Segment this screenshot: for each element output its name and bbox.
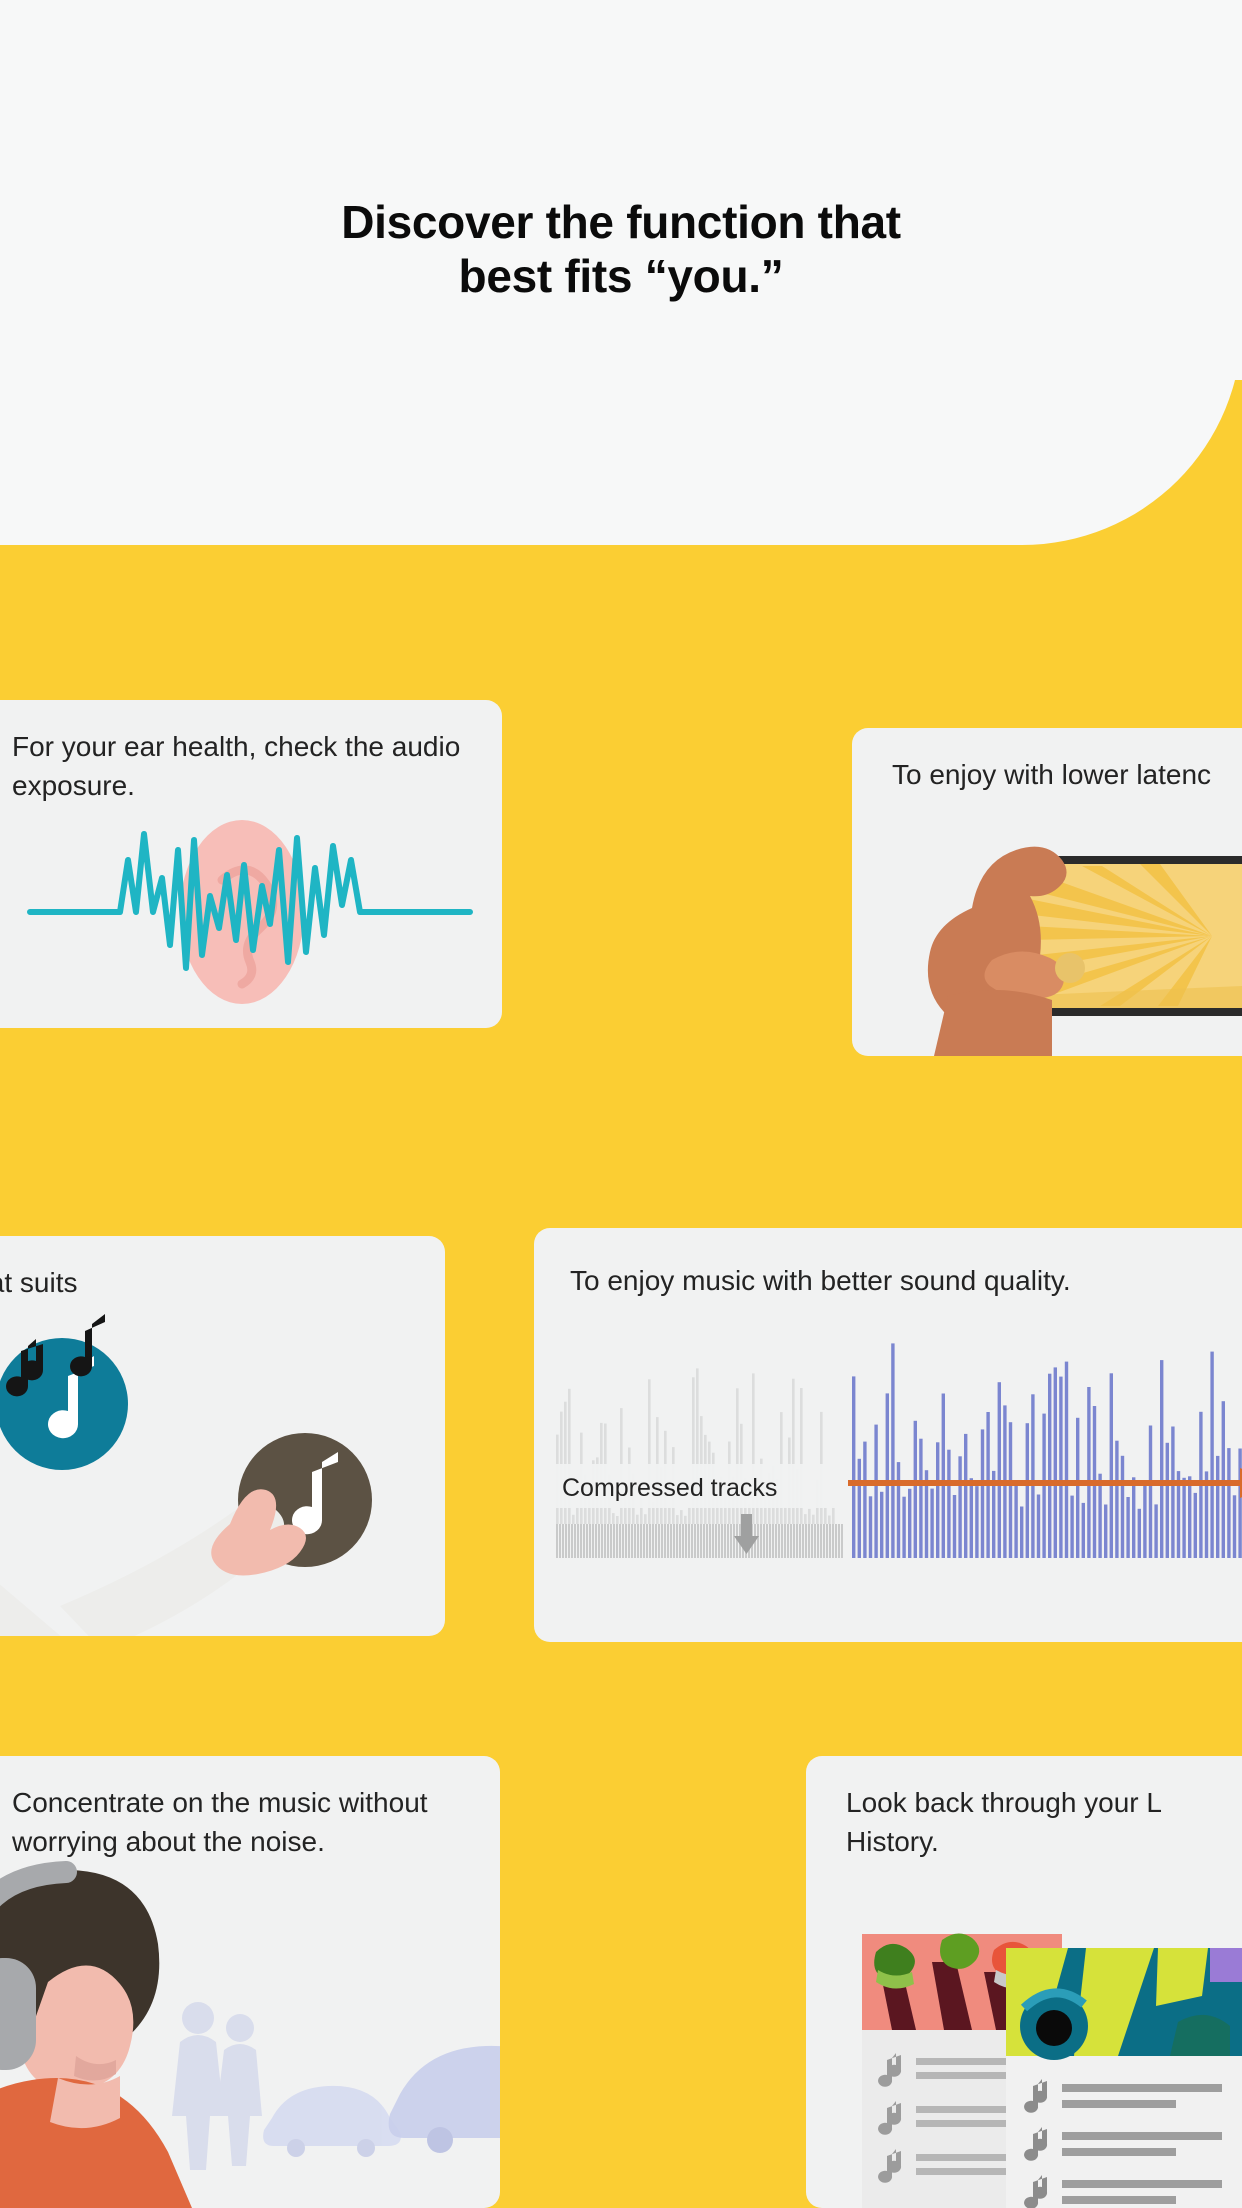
waveform-comparison-illustration: Compressed tracks [534,1228,1242,1642]
music-preference-illustration [0,1236,445,1636]
gaming-phone-illustration [852,728,1242,1056]
page-root: Discover the function that best fits “yo… [0,0,1242,2208]
audio-exposure-card[interactable]: For your ear health, check the audio exp… [0,700,502,1028]
page-title: Discover the function that best fits “yo… [0,196,1242,304]
sound-quality-card[interactable]: To enjoy music with better sound quality… [534,1228,1242,1642]
low-latency-card[interactable]: To enjoy with lower latenc [852,728,1242,1056]
listening-history-card[interactable]: Look back through your L History. [806,1756,1242,2208]
noise-cancelling-card[interactable]: Concentrate on the music without worryin… [0,1756,500,2208]
equalizer-card[interactable]: er to a setting that suits enjoy music. [0,1236,445,1636]
ear-waveform-illustration [0,700,502,1028]
history-list-illustration [806,1756,1242,2208]
compressed-tracks-label: Compressed tracks [562,1474,777,1502]
street-noise-illustration [0,1756,500,2208]
